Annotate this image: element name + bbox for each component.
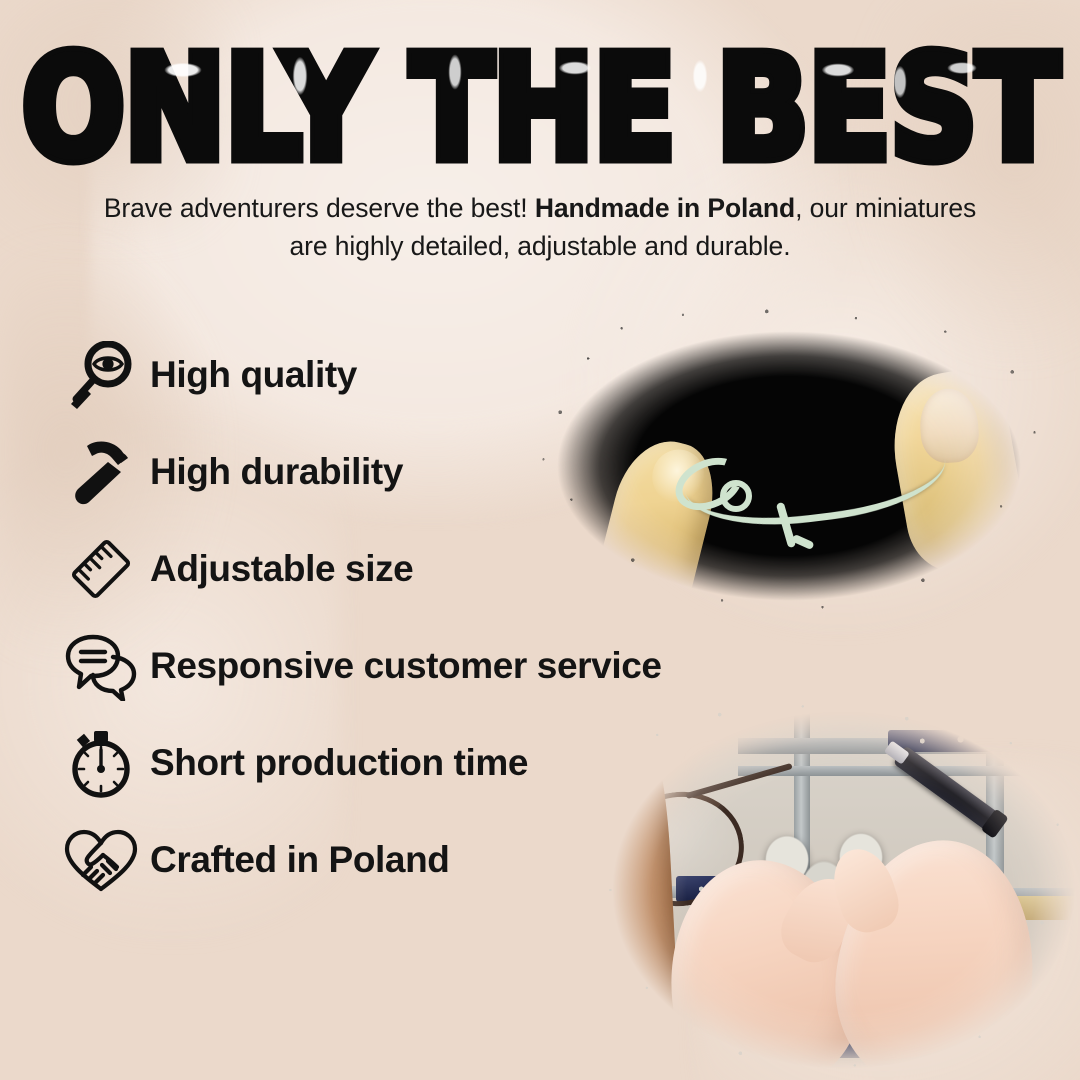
flexible-miniature-photo [524, 312, 1054, 620]
magnifier-eye-icon [58, 336, 144, 414]
list-item-label: Crafted in Poland [150, 839, 450, 881]
list-item-label: Responsive customer service [150, 645, 662, 687]
miniature-ring [720, 480, 752, 512]
photo-torn-mask [588, 700, 1080, 1080]
list-item-label: Adjustable size [150, 548, 413, 590]
miniature-bits [891, 733, 1065, 749]
photo-torn-mask [524, 312, 1054, 620]
subtitle-lead: Brave adventurers deserve the best! [104, 193, 535, 223]
list-item-label: Short production time [150, 742, 528, 784]
subtitle: Brave adventurers deserve the best! Hand… [90, 190, 990, 265]
list-item-label: High durability [150, 451, 403, 493]
stopwatch-icon [58, 724, 144, 802]
subtitle-emphasis: Handmade in Poland [535, 193, 795, 223]
infographic-canvas: ONLY THE BEST Brave adventurers deserve … [0, 0, 1080, 1080]
list-item-label: High quality [150, 354, 357, 396]
parts-tray [888, 730, 1068, 752]
workshop-painting-photo [588, 700, 1080, 1080]
hammer-icon [58, 433, 144, 511]
page-title: ONLY THE BEST [0, 36, 1080, 180]
handshake-heart-icon [58, 821, 144, 899]
speech-bubbles-icon [58, 627, 144, 705]
ruler-icon [58, 530, 144, 608]
